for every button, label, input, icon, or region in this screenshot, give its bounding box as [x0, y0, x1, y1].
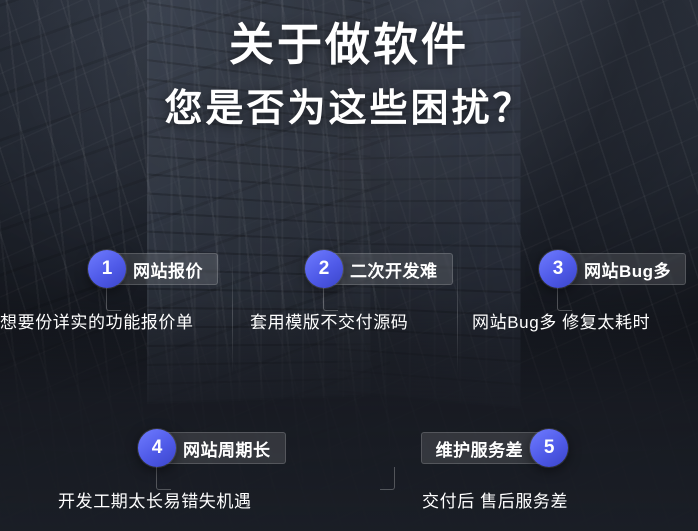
pain-point-badge-4: 4 [138, 429, 176, 467]
column-divider-2 [457, 254, 458, 374]
pain-point-header-3: 3 网站Bug多 [539, 250, 686, 288]
pain-point-desc-3: 网站Bug多 修复太耗时 [472, 308, 686, 333]
pain-point-header-4: 4 网站周期长 [138, 429, 286, 467]
pain-point-label-3: 网站Bug多 [563, 253, 686, 285]
page-subtitle: 您是否为这些困扰？ [0, 87, 698, 133]
column-divider-1 [232, 254, 233, 374]
connector-line-5 [380, 467, 395, 490]
pain-point-badge-5: 5 [530, 429, 568, 467]
pain-point-header-5: 5 维护服务差 [380, 429, 568, 467]
headline-block: 关于做软件 您是否为这些困扰？ [0, 18, 698, 132]
list-item[interactable]: 5 维护服务差 交付后 售后服务差 [380, 429, 568, 512]
list-item[interactable]: 2 二次开发难 套用模版不交付源码 [305, 250, 453, 333]
pain-point-badge-1: 1 [88, 250, 126, 288]
pain-point-header-2: 2 二次开发难 [305, 250, 453, 288]
list-item[interactable]: 1 网站报价 想要份详实的功能报价单 [88, 250, 218, 333]
pain-point-badge-3: 3 [539, 250, 577, 288]
pain-point-label-5: 维护服务差 [421, 432, 545, 464]
pain-point-header-1: 1 网站报价 [88, 250, 218, 288]
connector-line-1 [106, 288, 121, 311]
list-item[interactable]: 3 网站Bug多 网站Bug多 修复太耗时 [539, 250, 686, 333]
page-title: 关于做软件 [0, 18, 698, 73]
promo-banner: 关于做软件 您是否为这些困扰？ 1 网站报价 想要份详实的功能报价单 2 二次开… [0, 0, 698, 531]
pain-point-label-1: 网站报价 [112, 253, 218, 285]
pain-point-label-4: 网站周期长 [162, 432, 286, 464]
connector-line-3 [557, 288, 572, 311]
pain-point-desc-5: 交付后 售后服务差 [422, 487, 568, 512]
pain-point-label-2: 二次开发难 [329, 253, 453, 285]
connector-line-2 [323, 288, 338, 311]
pain-point-desc-1: 想要份详实的功能报价单 [0, 308, 218, 333]
connector-line-4 [156, 467, 171, 490]
list-item[interactable]: 4 网站周期长 开发工期太长易错失机遇 [138, 429, 286, 512]
pain-point-desc-2: 套用模版不交付源码 [250, 308, 453, 333]
pain-point-badge-2: 2 [305, 250, 343, 288]
pain-point-desc-4: 开发工期太长易错失机遇 [58, 487, 286, 512]
